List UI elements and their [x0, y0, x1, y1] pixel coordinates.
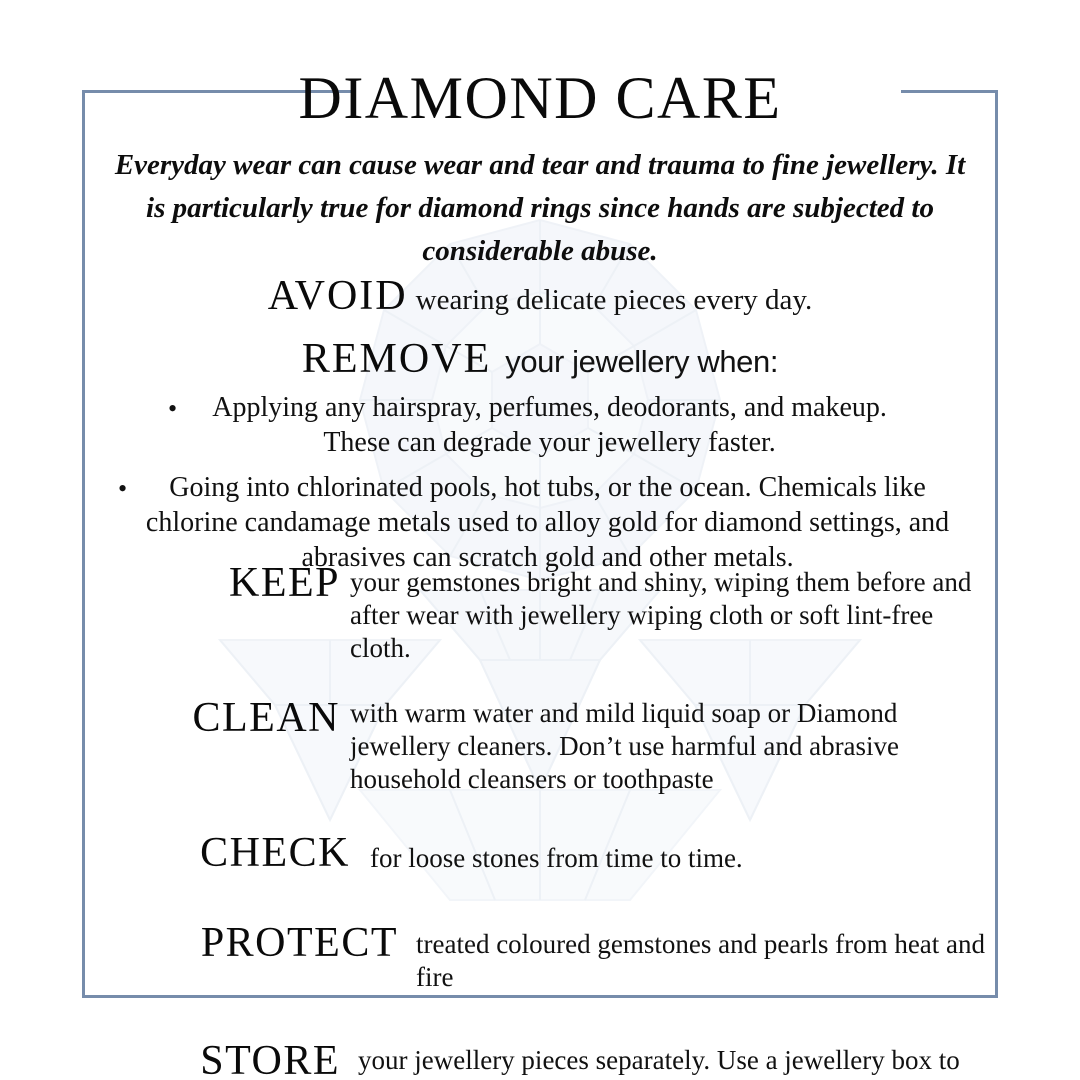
page-title: DIAMOND CARE [82, 66, 998, 130]
care-keyword-check: CHECK [88, 830, 360, 876]
card-content: DIAMOND CARE Everyday wear can cause wea… [82, 60, 998, 998]
remove-bullet-list: • Applying any hairspray, perfumes, deod… [112, 390, 968, 585]
care-text-protect: treated coloured gemstones and pearls fr… [408, 920, 994, 994]
remove-text: your jewellery when: [505, 344, 778, 379]
list-item: • Applying any hairspray, perfumes, deod… [112, 390, 968, 460]
remove-keyword: REMOVE [302, 336, 491, 382]
avoid-keyword: AVOID [268, 273, 408, 319]
intro-paragraph: Everyday wear can cause wear and tear an… [104, 144, 976, 273]
bullet-dot-icon: • [118, 470, 127, 506]
care-keyword-keep: KEEP [88, 560, 350, 606]
care-keyword-store: STORE [88, 1038, 350, 1080]
care-text-check: for loose stones from time to time. [360, 830, 994, 875]
care-text-clean: with warm water and mild liquid soap or … [350, 695, 994, 796]
list-item-text: Applying any hairspray, perfumes, deodor… [177, 390, 968, 460]
care-text-keep: your gemstones bright and shiny, wiping … [350, 560, 994, 665]
care-section-clean: CLEAN with warm water and mild liquid so… [88, 695, 994, 796]
care-keyword-protect: PROTECT [88, 920, 408, 966]
care-text-store: your jewellery pieces separately. Use a … [350, 1038, 994, 1080]
care-section-protect: PROTECT treated coloured gemstones and p… [88, 920, 994, 994]
care-keyword-clean: CLEAN [88, 695, 350, 741]
care-section-check: CHECK for loose stones from time to time… [88, 830, 994, 876]
care-section-store: STORE your jewellery pieces separately. … [88, 1038, 994, 1080]
bullet-dot-icon: • [168, 390, 177, 426]
avoid-line: AVOIDwearing delicate pieces every day. [82, 272, 998, 320]
care-instruction-list: KEEP your gemstones bright and shiny, wi… [88, 560, 994, 1080]
remove-line: REMOVEyour jewellery when: [82, 335, 998, 383]
care-section-keep: KEEP your gemstones bright and shiny, wi… [88, 560, 994, 665]
diamond-care-card: DIAMOND CARE Everyday wear can cause wea… [0, 0, 1080, 1080]
avoid-text: wearing delicate pieces every day. [416, 284, 813, 316]
